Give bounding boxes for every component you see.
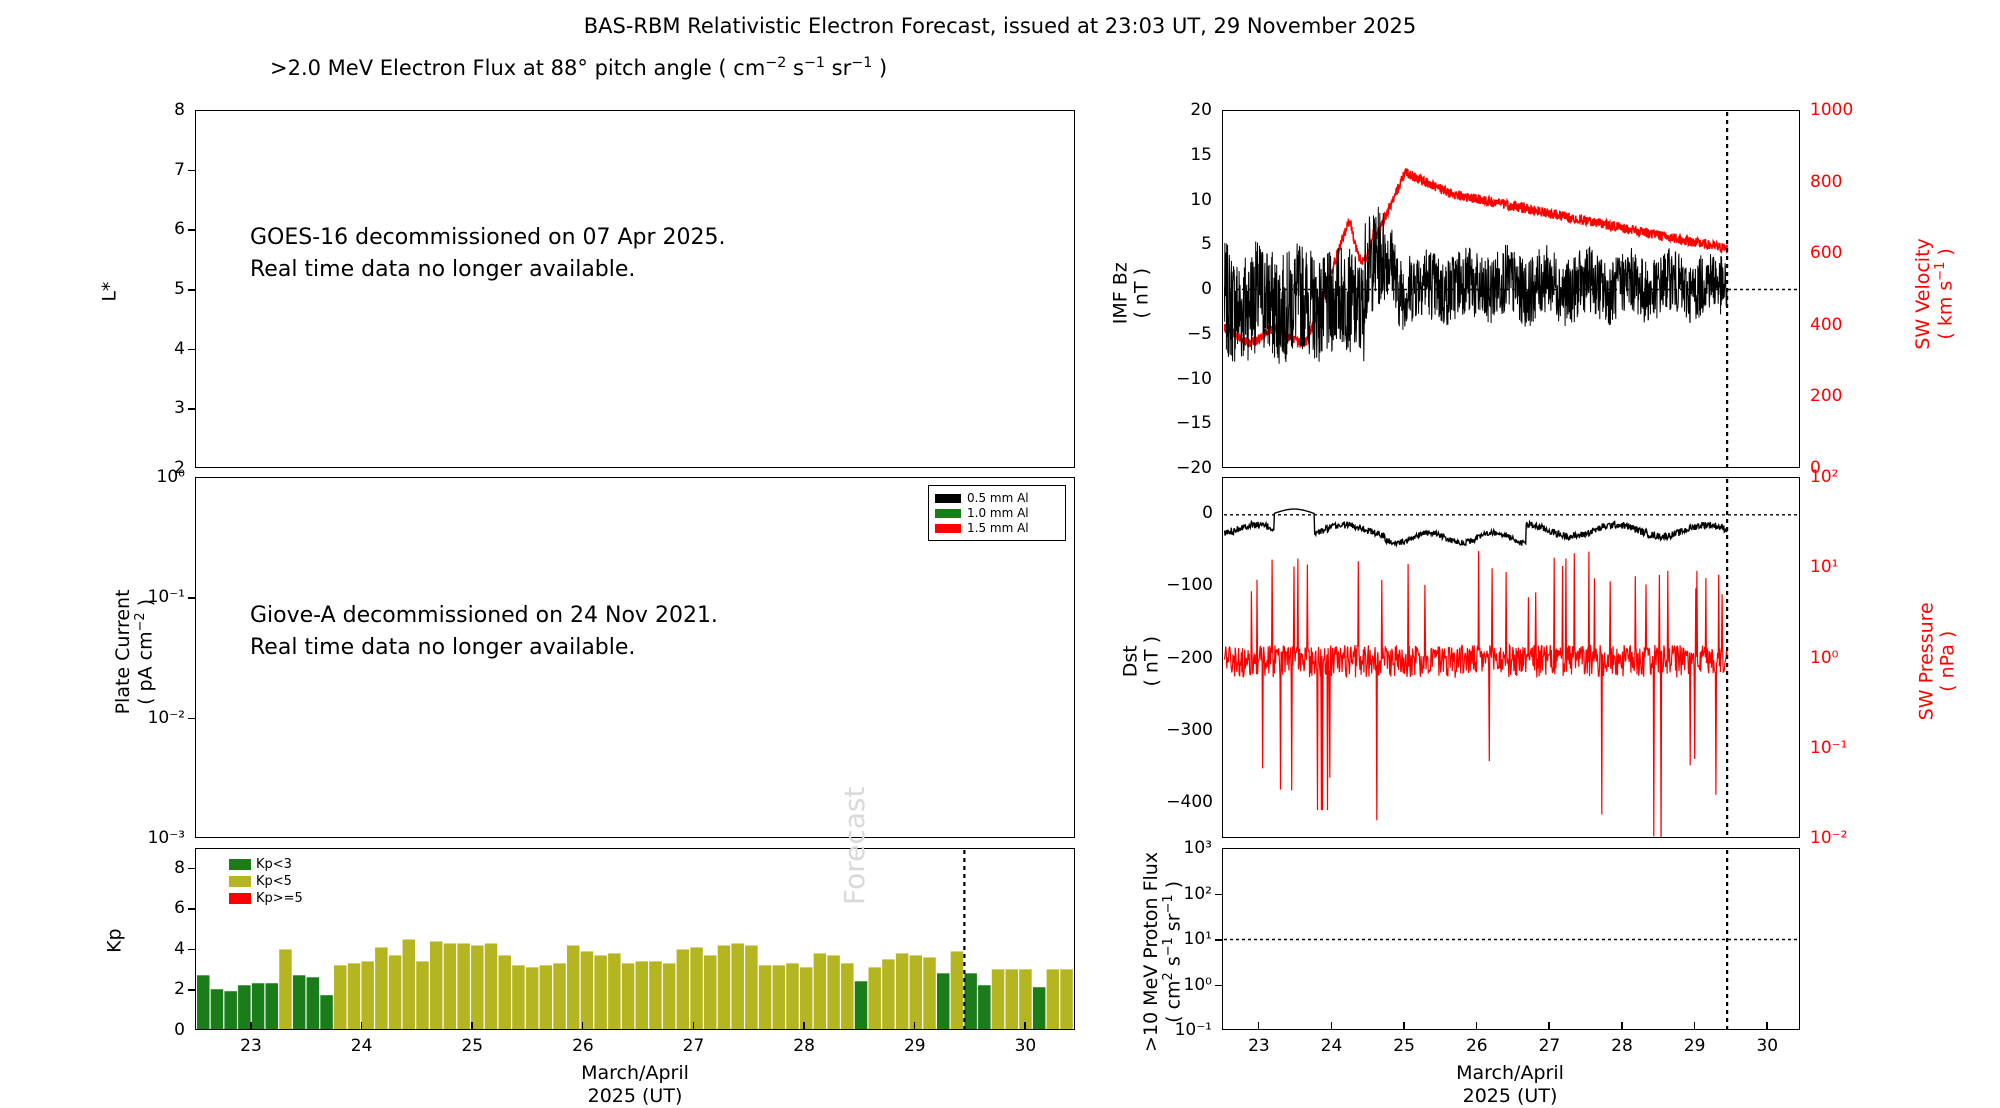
swvel-ytick-800: 800: [1810, 172, 1842, 192]
swp-ytick-1e1: 10¹: [1810, 557, 1838, 577]
dst-ytick-m100: −100: [1145, 575, 1213, 595]
kp-ytick-6: 6: [155, 898, 185, 918]
kp-tickmark: [188, 949, 196, 951]
plate-ylabel-units: ( pA cm: [135, 631, 157, 705]
kp-bar: [1005, 969, 1018, 1029]
kp-bar: [430, 941, 443, 1029]
proton-flux-ylabel: >10 MeV Proton Flux ( cm2 s−1 sr−1 ): [1141, 807, 1185, 1097]
kp-bar: [649, 961, 662, 1029]
lstar-tickmark: [188, 170, 196, 172]
kp-bar: [635, 961, 648, 1029]
kp-bar: [210, 989, 223, 1029]
kp-ytick-4: 4: [155, 939, 185, 959]
proton-units-close: ): [1163, 881, 1185, 894]
kp-bar: [868, 967, 881, 1029]
kp-xtick-25: 25: [461, 1036, 483, 1056]
kp-xtick-24: 24: [351, 1036, 373, 1056]
lstar-ytick-4: 4: [155, 339, 185, 359]
kp-tickmark: [188, 908, 196, 910]
kp-ytick-2: 2: [155, 979, 185, 999]
proton-tickmark: [1215, 985, 1223, 987]
kp-bar: [1019, 969, 1032, 1029]
kp-bar: [882, 959, 895, 1029]
proton-tickmark: [1215, 939, 1223, 941]
dst-ytick-0: 0: [1145, 503, 1213, 523]
kp-xlabel-line1: March/April: [581, 1062, 689, 1085]
legend-item[interactable]: Kp<3: [229, 856, 326, 872]
subtitle-sr: sr: [825, 56, 851, 80]
subtitle-sup-cm: −2: [765, 55, 786, 71]
kp-bar: [334, 965, 347, 1029]
kp-bar: [731, 943, 744, 1029]
kp-bar: [772, 965, 785, 1029]
dst-ylabel: Dst ( nT ): [1121, 611, 1164, 711]
proton-xlabel-line2: 2025 (UT): [1456, 1085, 1564, 1108]
proton-ylabel-line1: >10 MeV Proton Flux: [1141, 807, 1162, 1097]
legend-item[interactable]: 1.5 mm Al: [935, 521, 1059, 535]
legend-item[interactable]: Kp<5: [229, 873, 326, 889]
kp-bar: [1032, 987, 1045, 1029]
forecast-dashboard: BAS-RBM Relativistic Electron Forecast, …: [0, 0, 2000, 1100]
plate-tickmark: [188, 718, 196, 720]
kp-bar: [347, 963, 360, 1029]
swvel-units: ( km s: [1935, 281, 1957, 340]
swp-ytick-1em1: 10⁻¹: [1810, 738, 1847, 758]
kp-bar: [306, 977, 319, 1029]
proton-xtickmark: [1621, 1022, 1623, 1030]
sw-pressure-ylabel: SW Pressure ( nPa ): [1917, 571, 1960, 751]
swvel-close: ): [1935, 248, 1957, 261]
plate-ytick-1e0: 10⁰: [125, 467, 185, 487]
imf-ytick-20: 20: [1160, 100, 1212, 120]
imf-ytick-m15: −15: [1160, 413, 1212, 433]
kp-bar: [621, 963, 634, 1029]
kp-legend[interactable]: Kp<3 Kp<5 Kp>=5: [225, 853, 330, 909]
kp-bar: [1060, 969, 1073, 1029]
kp-bar: [251, 983, 264, 1029]
imf-bz-ylabel: IMF Bz ( nT ): [1111, 233, 1154, 353]
kp-ytick-0: 0: [155, 1020, 185, 1040]
kp-xtickmark: [693, 1022, 695, 1030]
kp-bar: [224, 991, 237, 1029]
imf-ytick-m20: −20: [1160, 458, 1212, 478]
proton-units-cm: ( cm: [1163, 980, 1185, 1022]
kp-xtick-29: 29: [904, 1036, 926, 1056]
kp-bar: [895, 953, 908, 1029]
kp-bar: [937, 973, 950, 1029]
kp-bar: [580, 951, 593, 1029]
kp-forecast-watermark: Forecast: [838, 787, 871, 905]
kp-xtick-26: 26: [572, 1036, 594, 1056]
lstar-message-line1: GOES-16 decommissioned on 07 Apr 2025.: [250, 222, 726, 254]
kp-bar: [238, 985, 251, 1029]
lstar-tickmark: [188, 289, 196, 291]
swvel-sup: −1: [1933, 262, 1948, 281]
proton-xtick-30: 30: [1756, 1036, 1778, 1056]
kp-xtickmark: [250, 1022, 252, 1030]
proton-xtickmark: [1331, 1022, 1333, 1030]
proton-xtickmark: [1548, 1022, 1550, 1030]
proton-xtickmark: [1403, 1022, 1405, 1030]
kp-bar: [745, 945, 758, 1029]
proton-xtick-28: 28: [1611, 1036, 1633, 1056]
legend-label-kp-lt5: Kp<5: [256, 874, 292, 889]
imf-ytick-5: 5: [1160, 234, 1212, 254]
kp-bar: [786, 963, 799, 1029]
proton-units-sr: sr: [1163, 913, 1185, 937]
dst-ylabel-line2: ( nT ): [1142, 611, 1163, 711]
proton-xtickmark: [1766, 1022, 1768, 1030]
plate-message-line1: Giove-A decommissioned on 24 Nov 2021.: [250, 600, 718, 632]
kp-bar: [443, 943, 456, 1029]
plate-tickmark: [188, 597, 196, 599]
kp-bar: [594, 955, 607, 1029]
kp-bar: [484, 943, 497, 1029]
lstar-tickmark: [188, 229, 196, 231]
kp-xtickmark: [582, 1022, 584, 1030]
legend-label-15mm: 1.5 mm Al: [967, 521, 1029, 535]
plate-current-legend[interactable]: 0.5 mm Al 1.0 mm Al 1.5 mm Al: [928, 485, 1066, 541]
kp-bar: [375, 947, 388, 1029]
kp-xtickmark: [914, 1022, 916, 1030]
dst-ytick-m300: −300: [1145, 720, 1213, 740]
proton-units-s: s: [1163, 956, 1185, 972]
kp-bar: [676, 949, 689, 1029]
legend-swatch-05mm: [935, 494, 961, 503]
plate-ylabel-line1: Plate Current: [113, 542, 134, 762]
swp-ylabel-line2: ( nPa ): [1938, 571, 1959, 751]
legend-swatch-10mm: [935, 509, 961, 518]
proton-xtick-29: 29: [1684, 1036, 1706, 1056]
subtitle-sup-s: −1: [804, 55, 825, 71]
kp-bar: [704, 955, 717, 1029]
kp-bar: [265, 983, 278, 1029]
kp-bar: [471, 945, 484, 1029]
kp-xtick-28: 28: [793, 1036, 815, 1056]
lstar-ylabel: L*: [99, 262, 120, 322]
swvel-ytick-400: 400: [1810, 315, 1842, 335]
proton-xtickmark: [1694, 1022, 1696, 1030]
plate-message-line2: Real time data no longer available.: [250, 632, 718, 664]
legend-swatch-kp-lt3: [229, 859, 251, 870]
plate-ylabel-close: ): [135, 599, 157, 612]
proton-flux-chart: [1224, 850, 1799, 1029]
kp-bar: [361, 961, 374, 1029]
proton-tickmark: [1215, 894, 1223, 896]
electron-flux-subtitle: >2.0 MeV Electron Flux at 88° pitch angl…: [270, 55, 887, 80]
subtitle-close: ): [872, 56, 887, 80]
plate-current-ylabel: Plate Current ( pA cm−2 ): [113, 542, 157, 762]
imf-ytick-10: 10: [1160, 190, 1212, 210]
kp-bar: [608, 953, 621, 1029]
proton-sup-cm: 2: [1161, 972, 1176, 980]
kp-ytick-8: 8: [155, 858, 185, 878]
imf-ytick-0: 0: [1160, 279, 1212, 299]
kp-bar: [293, 975, 306, 1029]
kp-bar: [1046, 969, 1059, 1029]
lstar-message: GOES-16 decommissioned on 07 Apr 2025. R…: [250, 222, 726, 286]
kp-xtickmark: [361, 1022, 363, 1030]
swvel-ylabel-line2: ( km s−1 ): [1934, 204, 1957, 384]
swvel-ytick-600: 600: [1810, 243, 1842, 263]
kp-xtickmark: [1024, 1022, 1026, 1030]
legend-item[interactable]: Kp>=5: [229, 890, 326, 906]
lstar-ytick-3: 3: [155, 398, 185, 418]
kp-bar: [978, 985, 991, 1029]
kp-bar: [388, 955, 401, 1029]
legend-label-kp-ge5: Kp>=5: [256, 891, 303, 906]
swp-ytick-1e0: 10⁰: [1810, 648, 1838, 668]
kp-bar: [717, 945, 730, 1029]
plate-current-message: Giove-A decommissioned on 24 Nov 2021. R…: [250, 600, 718, 664]
kp-bar: [909, 955, 922, 1029]
proton-xtick-27: 27: [1539, 1036, 1561, 1056]
kp-bar: [525, 967, 538, 1029]
proton-xtickmark: [1476, 1022, 1478, 1030]
kp-bar: [512, 965, 525, 1029]
kp-bar: [841, 963, 854, 1029]
subtitle-prefix: >2.0 MeV Electron Flux at 88: [270, 56, 577, 80]
kp-xtick-27: 27: [683, 1036, 705, 1056]
subtitle-s: s: [786, 56, 804, 80]
kp-bar: [279, 949, 292, 1029]
lstar-ytick-7: 7: [155, 160, 185, 180]
proton-xtick-26: 26: [1466, 1036, 1488, 1056]
kp-bar: [923, 957, 936, 1029]
degree-symbol: °: [577, 56, 588, 80]
kp-xtick-23: 23: [240, 1036, 262, 1056]
kp-bar: [950, 951, 963, 1029]
proton-sup-s: −1: [1161, 937, 1176, 956]
kp-xtickmark: [471, 1022, 473, 1030]
kp-bar: [827, 955, 840, 1029]
kp-bar: [758, 965, 771, 1029]
kp-xlabel-line2: 2025 (UT): [581, 1085, 689, 1108]
legend-label-05mm: 0.5 mm Al: [967, 491, 1029, 505]
plate-ytick-1e-3: 10⁻³: [125, 828, 185, 848]
kp-bar: [553, 963, 566, 1029]
imf-ytick-m5: −5: [1160, 324, 1212, 344]
lstar-ytick-8: 8: [155, 100, 185, 120]
proton-xtickmark: [1258, 1022, 1260, 1030]
subtitle-sup-sr: −1: [851, 55, 872, 71]
kp-bar: [854, 981, 867, 1029]
proton-xtick-24: 24: [1321, 1036, 1343, 1056]
proton-ylabel-line2: ( cm2 s−1 sr−1 ): [1162, 807, 1185, 1097]
kp-tickmark: [188, 868, 196, 870]
swvel-ytick-1000: 1000: [1810, 100, 1853, 120]
proton-xtick-23: 23: [1248, 1036, 1270, 1056]
lstar-panel: [195, 110, 1075, 468]
dst-ylabel-line1: Dst: [1121, 611, 1142, 711]
dst-chart: [1224, 479, 1799, 837]
lstar-tickmark: [188, 349, 196, 351]
legend-swatch-15mm: [935, 524, 961, 533]
kp-bar: [320, 995, 333, 1029]
plate-ylabel-sup: −2: [133, 612, 148, 631]
kp-bar: [498, 955, 511, 1029]
kp-bar: [197, 975, 210, 1029]
subtitle-mid: pitch angle ( cm: [588, 56, 765, 80]
kp-bar: [800, 967, 813, 1029]
proton-xlabel-line1: March/April: [1456, 1062, 1564, 1085]
lstar-ytick-6: 6: [155, 219, 185, 239]
swp-ylabel-line1: SW Pressure: [1917, 571, 1938, 751]
imf-ytick-m10: −10: [1160, 369, 1212, 389]
legend-label-kp-lt3: Kp<3: [256, 857, 292, 872]
kp-bar: [402, 939, 415, 1029]
kp-bar: [416, 961, 429, 1029]
imf-bz-chart: [1224, 112, 1799, 467]
kp-xtick-30: 30: [1015, 1036, 1037, 1056]
imf-ylabel-line2: ( nT ): [1132, 233, 1153, 353]
legend-swatch-kp-lt5: [229, 876, 251, 887]
legend-item[interactable]: 1.0 mm Al: [935, 506, 1059, 520]
kp-bar: [663, 963, 676, 1029]
swp-ytick-1em2: 10⁻²: [1810, 828, 1847, 848]
legend-swatch-kp-ge5: [229, 893, 251, 904]
kp-bar: [964, 973, 977, 1029]
plate-ylabel-line2: ( pA cm−2 ): [134, 542, 157, 762]
imf-ytick-15: 15: [1160, 145, 1212, 165]
proton-xlabel: March/April 2025 (UT): [1456, 1062, 1564, 1108]
lstar-message-line2: Real time data no longer available.: [250, 254, 726, 286]
swvel-ytick-200: 200: [1810, 386, 1842, 406]
lstar-tickmark: [188, 408, 196, 410]
kp-xlabel: March/April 2025 (UT): [581, 1062, 689, 1108]
page-title: BAS-RBM Relativistic Electron Forecast, …: [0, 14, 2000, 38]
swvel-ylabel-line1: SW Velocity: [1913, 204, 1934, 384]
imf-ylabel-line1: IMF Bz: [1111, 233, 1132, 353]
sw-velocity-ylabel: SW Velocity ( km s−1 ): [1913, 204, 1957, 384]
kp-bar: [813, 953, 826, 1029]
kp-bar: [991, 969, 1004, 1029]
kp-ylabel: Kp: [104, 911, 125, 971]
legend-item[interactable]: 0.5 mm Al: [935, 491, 1059, 505]
proton-xtick-25: 25: [1393, 1036, 1415, 1056]
kp-bar: [567, 945, 580, 1029]
kp-xtickmark: [803, 1022, 805, 1030]
lstar-ytick-5: 5: [155, 279, 185, 299]
kp-bar: [457, 943, 470, 1029]
legend-label-10mm: 1.0 mm Al: [967, 506, 1029, 520]
swp-ytick-1e2: 10²: [1810, 467, 1838, 487]
kp-bar: [539, 965, 552, 1029]
proton-sup-sr: −1: [1161, 894, 1176, 913]
kp-tickmark: [188, 989, 196, 991]
kp-bar: [690, 947, 703, 1029]
